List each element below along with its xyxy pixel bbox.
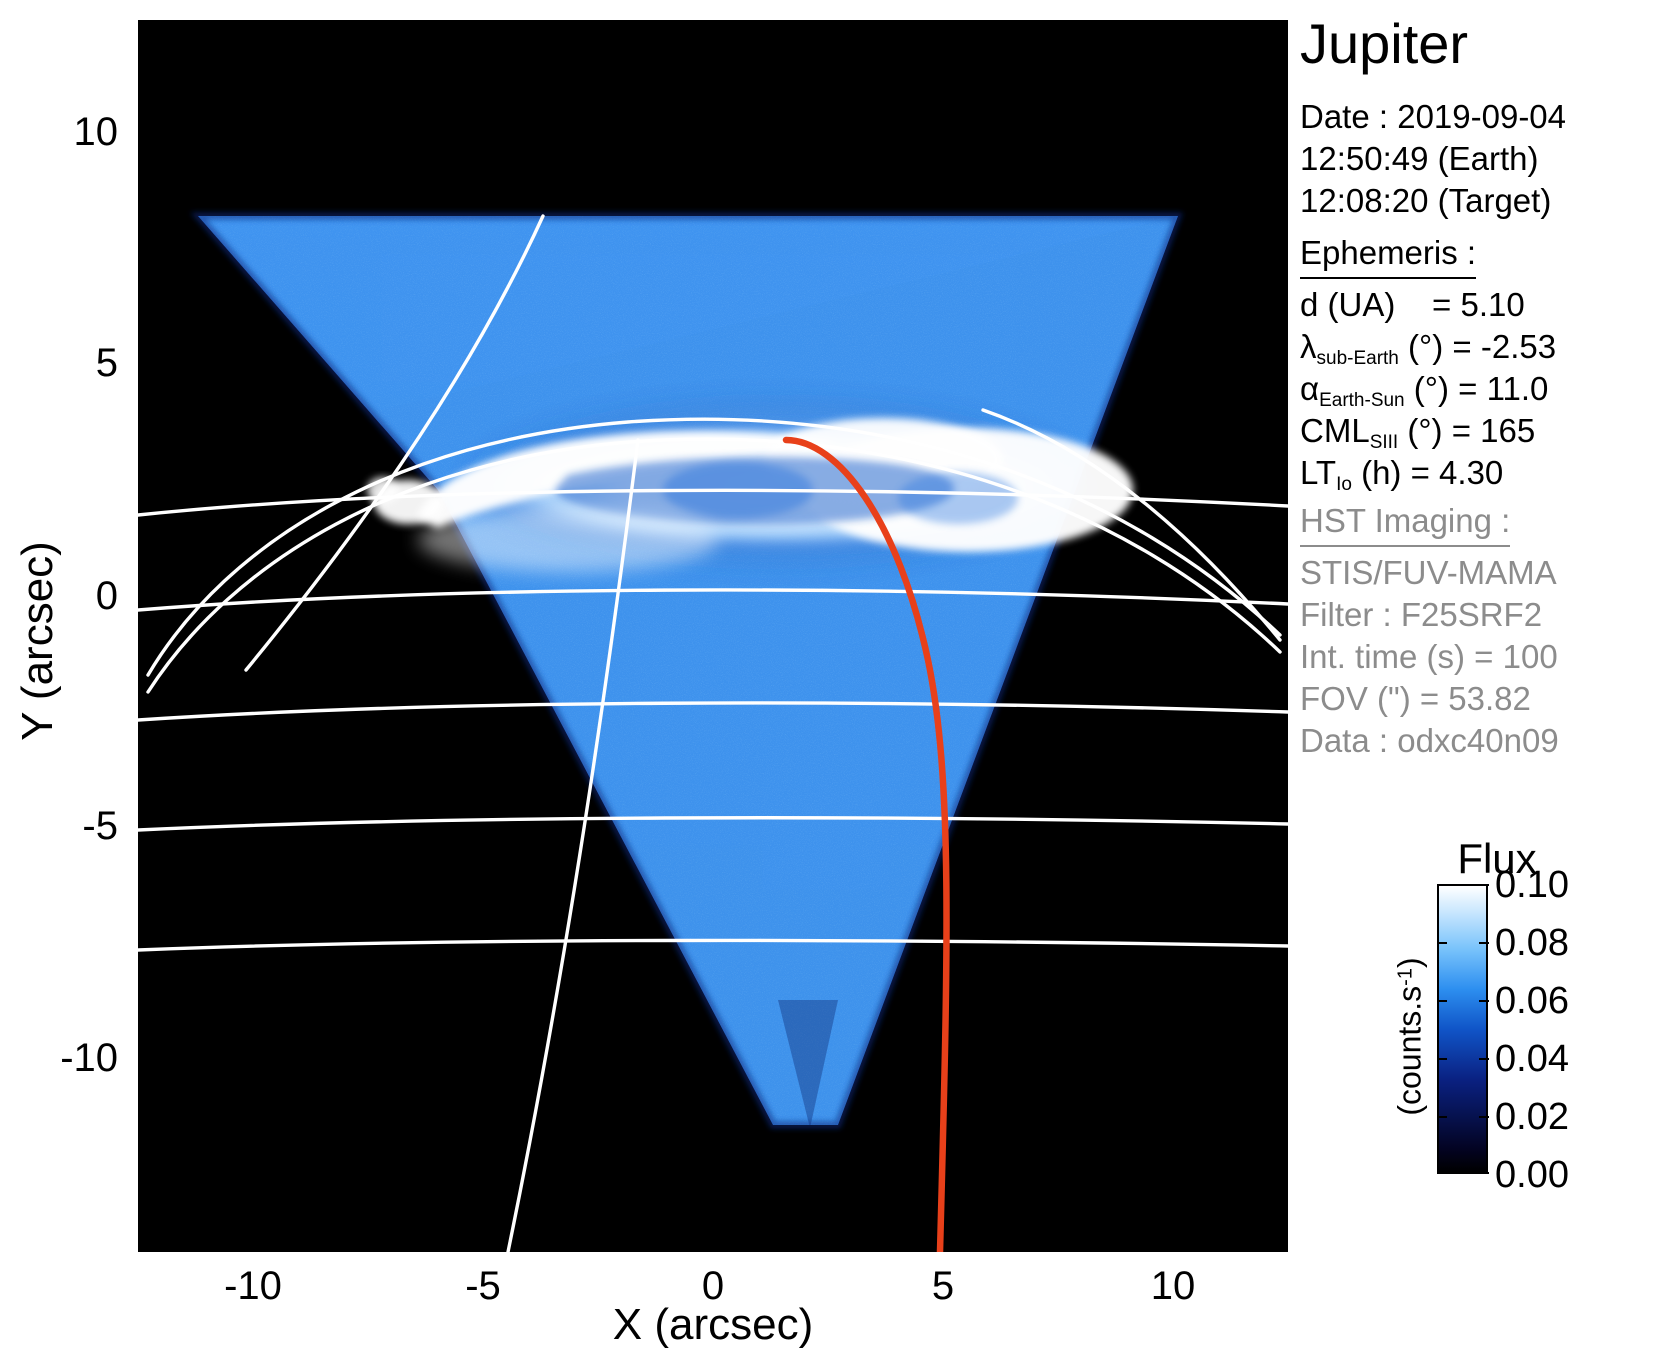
colorbar-tick-label: 0.08 bbox=[1495, 924, 1569, 962]
y-tick-label: 5 bbox=[56, 343, 118, 383]
integration-time: Int. time (s) = 100 bbox=[1300, 638, 1558, 675]
colorbar-tick-label: 0.02 bbox=[1495, 1098, 1569, 1136]
ephemeris-row-phase-angle: αEarth-Sun (°) = 11.0 bbox=[1300, 368, 1556, 410]
colorbar-tick bbox=[1479, 884, 1489, 886]
image-plot-panel[interactable] bbox=[138, 20, 1288, 1252]
ephemeris-unit: (°) bbox=[1407, 412, 1442, 449]
target-time: 12:08:20 (Target) bbox=[1300, 182, 1551, 219]
y-tick-label: 0 bbox=[56, 576, 118, 616]
colorbar-tick bbox=[1479, 1058, 1489, 1060]
ephemeris-unit: (°) bbox=[1414, 370, 1449, 407]
dataset-id: Data : odxc40n09 bbox=[1300, 722, 1559, 759]
ephemeris-value: = 5.10 bbox=[1432, 286, 1525, 323]
ephemeris-value: = 11.0 bbox=[1458, 370, 1548, 407]
colorbar-tick bbox=[1437, 1058, 1447, 1060]
colorbar-tick bbox=[1437, 1000, 1447, 1002]
lt-label: LT bbox=[1300, 454, 1336, 491]
colorbar-unit-close: ) bbox=[1392, 957, 1428, 968]
y-tick-label: -5 bbox=[41, 806, 118, 846]
ephemeris-block: Ephemeris : d (UA) = 5.10 λsub-Earth (°)… bbox=[1300, 232, 1556, 494]
colorbar-tick bbox=[1479, 942, 1489, 944]
ephemeris-row-io-local-time: LTIo (h) = 4.30 bbox=[1300, 452, 1556, 494]
y-axis-label: Y (arcsec) bbox=[13, 491, 63, 791]
ephemeris-row-distance: d (UA) = 5.10 bbox=[1300, 284, 1556, 326]
ephemeris-value: = 165 bbox=[1452, 412, 1536, 449]
info-sidebar: Jupiter Date : 2019-09-04 12:50:49 (Eart… bbox=[1300, 0, 1677, 1367]
colorbar-tick bbox=[1479, 1116, 1489, 1118]
cml-label: CML bbox=[1300, 412, 1370, 449]
colorbar-tick bbox=[1479, 1172, 1489, 1174]
colorbar-gradient bbox=[1437, 884, 1488, 1174]
colorbar-tick bbox=[1479, 1000, 1489, 1002]
ephemeris-heading: Ephemeris : bbox=[1300, 232, 1476, 279]
ephemeris-label: d (UA) bbox=[1300, 286, 1395, 323]
target-title: Jupiter bbox=[1300, 12, 1468, 76]
earth-time: 12:50:49 (Earth) bbox=[1300, 140, 1538, 177]
ephemeris-value: = 4.30 bbox=[1411, 454, 1504, 491]
colorbar-unit-text: (counts.s bbox=[1392, 986, 1428, 1116]
figure-canvas: 10 5 0 -5 -10 -10 -5 0 5 10 X (arcsec) Y… bbox=[0, 0, 1677, 1367]
ephemeris-subscript: sub-Earth bbox=[1317, 348, 1399, 369]
y-tick-label: -10 bbox=[30, 1038, 118, 1078]
ephemeris-subscript: Earth-Sun bbox=[1319, 390, 1405, 411]
filter-name: Filter : F25SRF2 bbox=[1300, 596, 1542, 633]
lambda-symbol: λ bbox=[1300, 328, 1317, 365]
colorbar-tick-label: 0.10 bbox=[1495, 866, 1569, 904]
ephemeris-row-cml: CMLSIII (°) = 165 bbox=[1300, 410, 1556, 452]
hst-imaging-block: HST Imaging : STIS/FUV-MAMA Filter : F25… bbox=[1300, 500, 1559, 762]
colorbar-tick bbox=[1437, 1116, 1447, 1118]
alpha-symbol: α bbox=[1300, 370, 1319, 407]
ephemeris-value: = -2.53 bbox=[1452, 328, 1556, 365]
ephemeris-unit: (°) bbox=[1408, 328, 1443, 365]
instrument-name: STIS/FUV-MAMA bbox=[1300, 554, 1557, 591]
colorbar-tick-label: 0.00 bbox=[1495, 1156, 1569, 1194]
colorbar-tick bbox=[1437, 1172, 1447, 1174]
colorbar-tick bbox=[1437, 942, 1447, 944]
colorbar-tick-label: 0.04 bbox=[1495, 1040, 1569, 1078]
colorbar-unit-exponent: -1 bbox=[1395, 968, 1417, 986]
ephemeris-row-sub-earth-latitude: λsub-Earth (°) = -2.53 bbox=[1300, 326, 1556, 368]
field-of-view: FOV (") = 53.82 bbox=[1300, 680, 1531, 717]
jupiter-aurora-image bbox=[138, 20, 1288, 1252]
ephemeris-subscript: SIII bbox=[1370, 432, 1399, 453]
x-axis-label: X (arcsec) bbox=[138, 1300, 1288, 1350]
colorbar-tick bbox=[1437, 884, 1447, 886]
colorbar-tick-label: 0.06 bbox=[1495, 982, 1569, 1020]
ephemeris-subscript: Io bbox=[1336, 474, 1352, 495]
date-line: Date : 2019-09-04 bbox=[1300, 98, 1566, 135]
y-tick-label: 10 bbox=[56, 112, 118, 152]
observation-date-block: Date : 2019-09-04 12:50:49 (Earth) 12:08… bbox=[1300, 96, 1566, 222]
colorbar-unit-label: (counts.s-1) bbox=[1392, 887, 1429, 1187]
hst-imaging-heading: HST Imaging : bbox=[1300, 500, 1510, 547]
ephemeris-unit: (h) bbox=[1361, 454, 1401, 491]
